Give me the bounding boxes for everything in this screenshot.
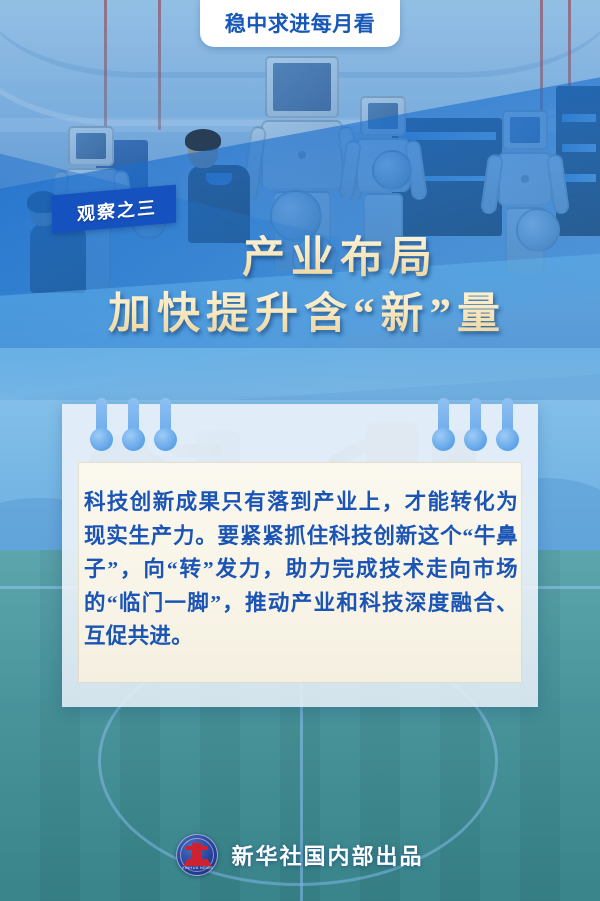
binding-pin-icon — [438, 398, 449, 438]
binding-pin-icon — [470, 398, 481, 438]
notebook-binding-pins — [0, 404, 600, 456]
title-line-1: 产业布局 — [0, 232, 600, 286]
footer: XINHUA NEWS 新华社国内部出品 — [0, 826, 600, 884]
quote-text: 科技创新成果只有落到产业上，才能转化为现实生产力。要紧紧抓住科技创新这个“牛鼻子… — [84, 486, 518, 654]
binding-pin-icon — [160, 398, 171, 438]
binding-pin-icon — [502, 398, 513, 438]
decorative-band — [0, 348, 600, 402]
top-badge-label: 稳中求进每月看 — [225, 8, 376, 38]
page-title: 产业布局 加快提升含“新”量 — [0, 232, 600, 344]
title-line-2: 加快提升含“新”量 — [0, 286, 600, 344]
footer-label: 新华社国内部出品 — [231, 839, 423, 871]
binding-pin-icon — [128, 398, 139, 438]
xinhua-emblem-icon: XINHUA NEWS — [176, 834, 218, 876]
binding-pin-icon — [96, 398, 107, 438]
poster-canvas: 稳中求进每月看 观察之三 产业布局 加快提升含“新”量 科技创新成果只有落到产业… — [0, 0, 600, 901]
top-badge[interactable]: 稳中求进每月看 — [200, 0, 400, 47]
emblem-micro-text: XINHUA NEWS — [177, 865, 217, 870]
